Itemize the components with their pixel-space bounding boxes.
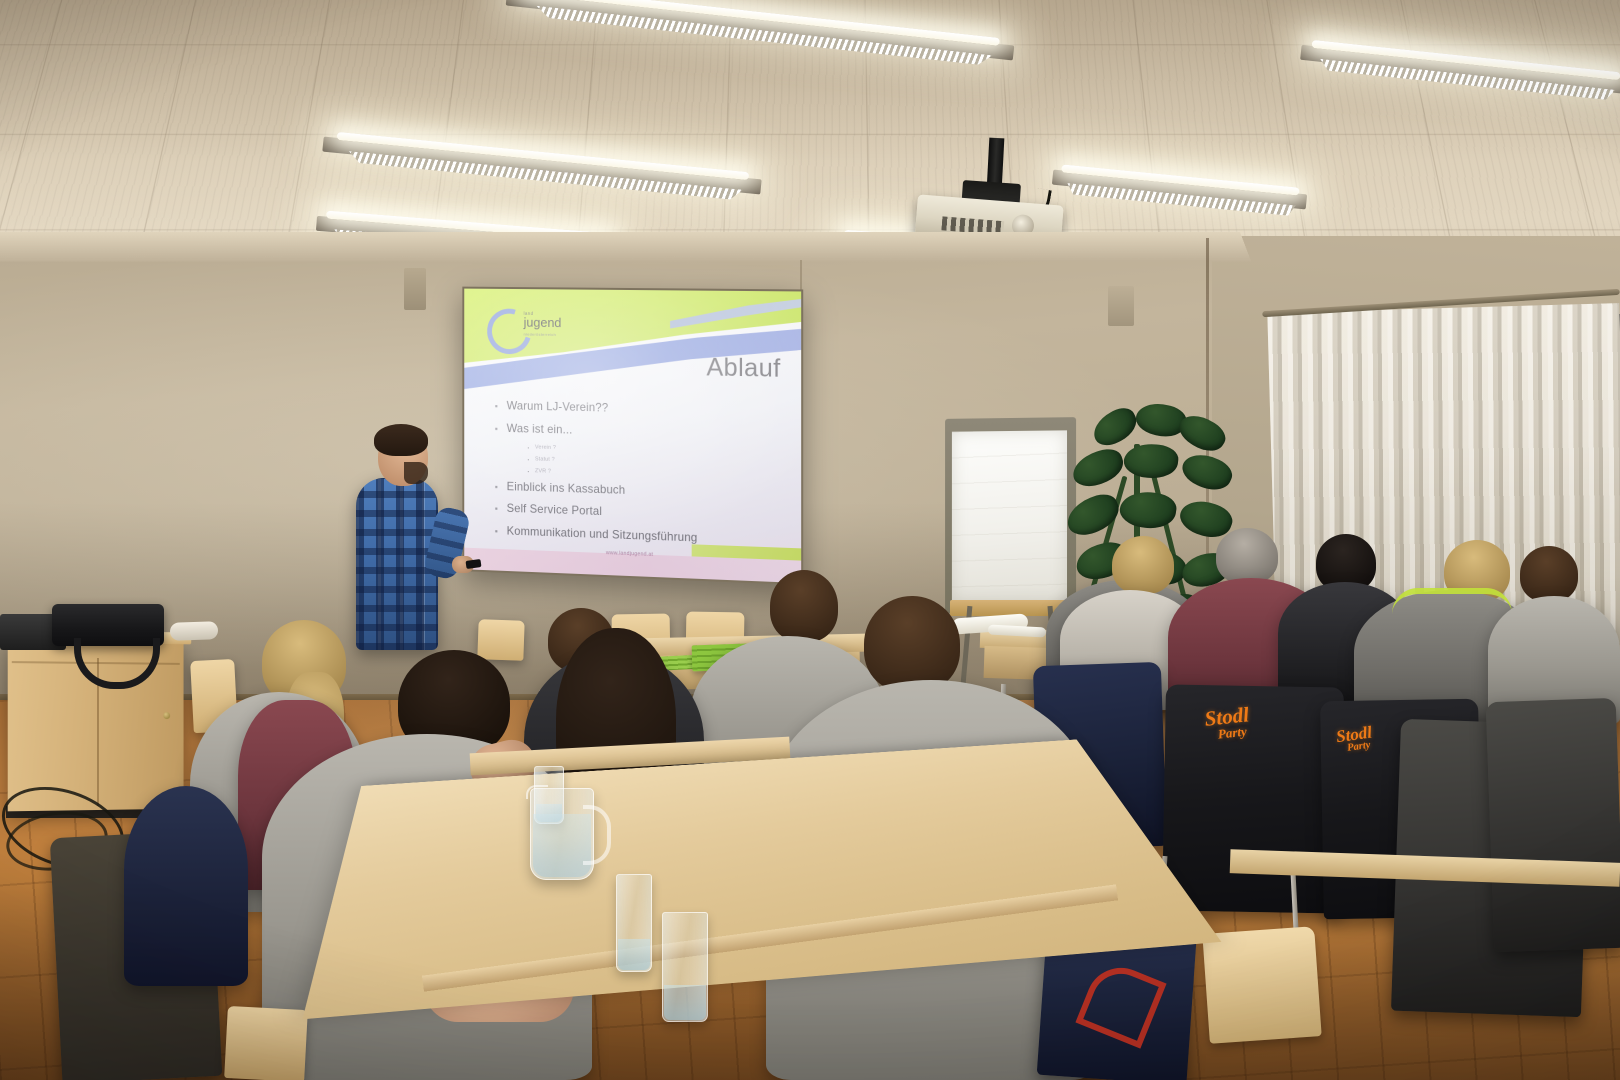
slide-bullet: ▪ Einblick ins Kassabuch bbox=[495, 479, 785, 502]
presenter-hair bbox=[374, 424, 428, 456]
attendee-head bbox=[1520, 546, 1578, 602]
chair-back bbox=[477, 619, 524, 661]
wall-speaker-right bbox=[1108, 286, 1134, 326]
drinking-glass bbox=[616, 874, 652, 972]
bullet-dot-icon: ▪ bbox=[495, 502, 498, 516]
water-pitcher bbox=[530, 788, 594, 880]
chair-back bbox=[1202, 926, 1321, 1044]
neon-hood-trim bbox=[1392, 588, 1512, 624]
jacket-on-chair bbox=[1486, 698, 1620, 952]
jacket-logo-text: Stodl Party bbox=[1335, 724, 1374, 755]
jacket-logo-line2: Party bbox=[1347, 740, 1375, 754]
slide-bullet: ▪ Kommunikation und Sitzungsführung bbox=[495, 524, 785, 549]
ceiling-soffit bbox=[0, 232, 1251, 262]
attendee-dark-jacket bbox=[124, 786, 248, 986]
slide-bullet: ▪ Warum LJ-Verein?? bbox=[495, 399, 785, 419]
attendee-head bbox=[1112, 536, 1174, 594]
jacket-logo-line2: Party bbox=[1217, 725, 1251, 741]
logo-main-text: jugend bbox=[524, 316, 562, 329]
bullet-dot-icon: ▪ bbox=[495, 399, 498, 413]
flipchart bbox=[945, 417, 1076, 615]
paper-roll bbox=[170, 621, 219, 641]
slide-bullet: ▪ Self Service Portal bbox=[495, 502, 785, 526]
jacket-stodl-party: Stodl Party bbox=[1162, 684, 1344, 913]
bullet-dot-icon: ▪ bbox=[495, 524, 498, 538]
slide-sub-bullet-list: ▪ Verein ? ▪ Statut ? ▪ ZVR ? bbox=[527, 444, 784, 484]
attendee-head bbox=[770, 570, 838, 642]
slide-title: Ablauf bbox=[706, 353, 780, 384]
landjugend-logo: land jugend niederösterreich bbox=[487, 306, 570, 349]
bullet-dot-icon: ▪ bbox=[495, 421, 498, 435]
laptop-bag bbox=[52, 604, 164, 646]
bullet-dot-icon: ▪ bbox=[527, 456, 529, 464]
presenter-beard bbox=[404, 462, 428, 484]
flipchart-paper bbox=[952, 430, 1067, 602]
slide-bullet: ▪ Was ist ein... bbox=[495, 421, 785, 442]
slide-bullet-list: ▪ Warum LJ-Verein?? ▪ Was ist ein... ▪ V… bbox=[495, 399, 785, 557]
bullet-text: Was ist ein... bbox=[507, 422, 573, 437]
bullet-text: Einblick ins Kassabuch bbox=[507, 480, 626, 498]
bullet-dot-icon: ▪ bbox=[495, 479, 498, 493]
logo-sub-text: niederösterreich bbox=[524, 332, 556, 337]
bullet-text: Kommunikation und Sitzungsführung bbox=[507, 524, 698, 545]
attendee-head bbox=[864, 596, 960, 692]
glass-water bbox=[618, 939, 650, 970]
chair-back bbox=[224, 1006, 308, 1080]
pitcher-spout bbox=[526, 785, 548, 799]
wall-speaker-left bbox=[404, 268, 426, 310]
drinking-glass bbox=[662, 912, 708, 1022]
sub-bullet-text: ZVR ? bbox=[535, 469, 551, 477]
bullet-dot-icon: ▪ bbox=[527, 444, 529, 452]
sub-bullet-text: Verein ? bbox=[535, 445, 556, 453]
sub-bullet-text: Statut ? bbox=[535, 457, 555, 465]
glass-water bbox=[664, 985, 706, 1020]
cabinet-lock-knob bbox=[163, 712, 170, 719]
jacket-logo-text: Stodl Party bbox=[1204, 705, 1251, 742]
attendee-head bbox=[1216, 528, 1278, 584]
presentation-slide: land jugend niederösterreich Ablauf ▪ Wa… bbox=[464, 289, 801, 583]
seminar-room-photo: land jugend niederösterreich Ablauf ▪ Wa… bbox=[0, 0, 1620, 1080]
bullet-dot-icon: ▪ bbox=[527, 468, 529, 476]
bullet-text: Warum LJ-Verein?? bbox=[507, 399, 609, 415]
bullet-text: Self Service Portal bbox=[507, 502, 602, 519]
projection-screen: land jugend niederösterreich Ablauf ▪ Wa… bbox=[462, 287, 803, 586]
